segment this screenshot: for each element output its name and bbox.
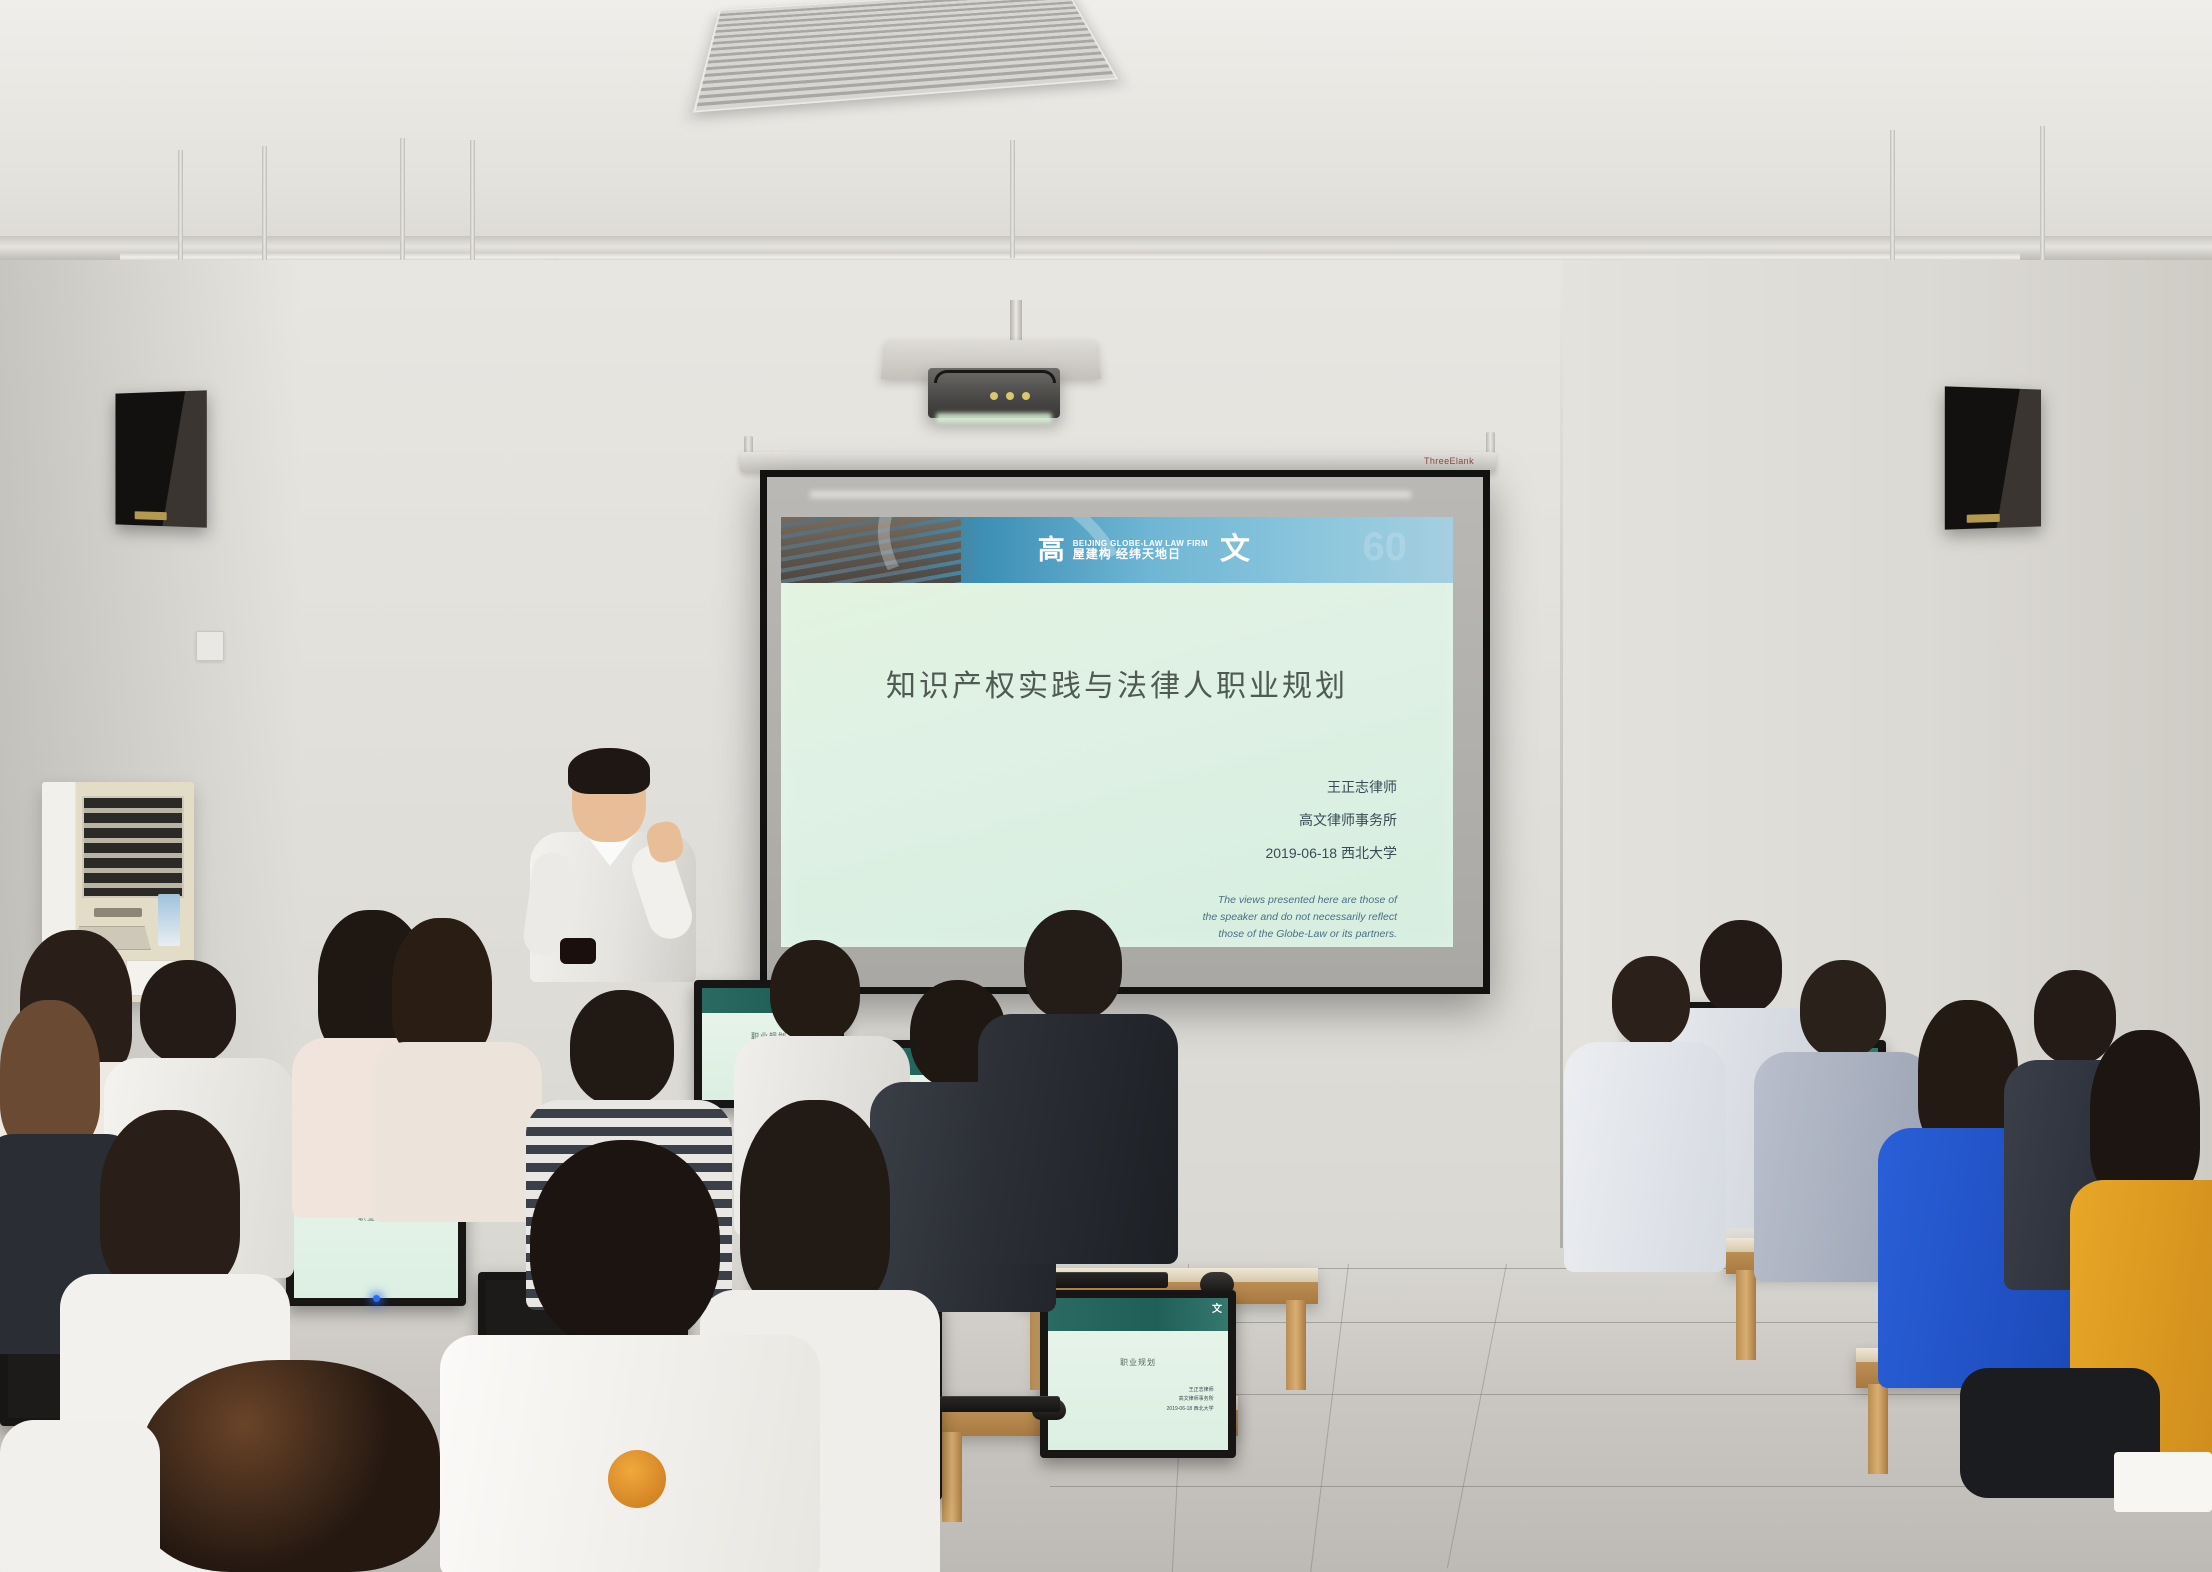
hanger-rod-1 xyxy=(178,150,183,260)
desk-leg xyxy=(1868,1384,1888,1474)
screen-roller-case: ThreeElank xyxy=(740,452,1496,472)
projector-port-2 xyxy=(1006,392,1014,400)
logo-char-gao: 高 xyxy=(1038,537,1065,564)
projector-port-3 xyxy=(1022,392,1030,400)
monitor-center-4: 文 职业规划 王正志律师 高文律师事务所 2019-06-18 西北大学 xyxy=(1040,1290,1236,1458)
hanger-rod-5 xyxy=(1010,140,1015,258)
slide-meta-block: 王正志律师 高文律师事务所 2019-06-18 西北大学 xyxy=(781,771,1453,870)
attendee-head xyxy=(570,990,674,1106)
screen-highlight xyxy=(810,491,1411,498)
logo-char-wen: 文 xyxy=(1220,535,1250,565)
slide-date-venue: 2019-06-18 西北大学 xyxy=(781,837,1397,870)
banner-ghost-mark: 60 xyxy=(1363,525,1408,570)
floor-grout-v2 xyxy=(1310,1264,1349,1572)
firm-logo: 高 BEIJING GLOBE-LAW LAW FIRM 屋建构 经纬天地日 文 xyxy=(1038,535,1250,565)
monitor-meta-date: 2019-06-18 西北大学 xyxy=(1048,1405,1214,1415)
monitor-meta-name: 王正志律师 xyxy=(1048,1386,1214,1396)
hanger-rod-2 xyxy=(262,146,267,264)
monitor-slide-title: 职业规划 xyxy=(1048,1357,1228,1368)
attendee-head xyxy=(530,1140,720,1350)
monitor-slide-banner: 文 xyxy=(1048,1298,1228,1331)
attendee-torso xyxy=(0,1420,160,1572)
tshirt-basketball-graphic xyxy=(608,1450,666,1508)
attendee-head xyxy=(140,960,236,1064)
monitor-slide-meta: 王正志律师 高文律师事务所 2019-06-18 西北大学 xyxy=(1048,1386,1228,1415)
mouse-center-1[interactable] xyxy=(1200,1272,1234,1294)
monitor-screen: 文 职业规划 王正志律师 高文律师事务所 2019-06-18 西北大学 xyxy=(1048,1298,1228,1450)
wall-outlet-plate xyxy=(196,631,224,661)
classroom-photo: ThreeElank 60 高 BEIJING GLOBE-LAW LAW FI… xyxy=(0,0,2212,1572)
desk-leg xyxy=(942,1432,962,1522)
monitor-power-led xyxy=(373,1295,380,1302)
presenter xyxy=(512,748,712,978)
attendee-hair xyxy=(0,1000,100,1150)
speaker-grille-right xyxy=(1945,386,2041,529)
speaker-badge-left xyxy=(135,511,167,520)
wall-speaker-left xyxy=(115,390,206,527)
attendee-hair xyxy=(392,918,492,1058)
speaker-badge-right xyxy=(1967,514,2000,523)
attendee-head xyxy=(770,940,860,1042)
desk-leg xyxy=(1286,1300,1306,1390)
monitor-meta-org: 高文律师事务所 xyxy=(1048,1395,1214,1405)
attendee-torso xyxy=(1564,1042,1726,1272)
attendee-torso xyxy=(978,1014,1178,1264)
presenter-hair xyxy=(568,748,650,794)
projection-screen: 60 高 BEIJING GLOBE-LAW LAW FIRM 屋建构 经纬天地… xyxy=(760,470,1490,994)
screen-surface: 60 高 BEIJING GLOBE-LAW LAW FIRM 屋建构 经纬天地… xyxy=(767,477,1483,987)
attendee-hair xyxy=(100,1110,240,1290)
floor-grout-v3 xyxy=(1447,1264,1507,1568)
ac-brand-badge xyxy=(94,908,142,917)
hanger-rod-3 xyxy=(400,138,405,260)
slide-title: 知识产权实践与法律人职业规划 xyxy=(781,661,1453,705)
papers-on-desk xyxy=(2114,1452,2212,1512)
hanger-rod-7 xyxy=(2040,126,2045,262)
speaker-grille-left xyxy=(115,390,206,527)
keyboard-center-2[interactable] xyxy=(940,1396,1060,1412)
slide-presenter-name: 王正志律师 xyxy=(781,771,1397,804)
wall-speaker-right xyxy=(1945,386,2041,529)
firm-chinese-name: 屋建构 经纬天地日 xyxy=(1073,548,1208,562)
attendee-head xyxy=(1800,960,1886,1058)
projector-port-1 xyxy=(990,392,998,400)
projector xyxy=(928,368,1060,418)
attendee-head xyxy=(1612,956,1690,1046)
slide-organization: 高文律师事务所 xyxy=(781,804,1397,837)
attendee-head xyxy=(2034,970,2116,1064)
monitor-logo-char: 文 xyxy=(1212,1300,1222,1315)
ac-energy-label xyxy=(158,894,180,946)
hanger-rod-6 xyxy=(1890,130,1895,260)
desk-leg xyxy=(1736,1270,1756,1360)
slide-banner: 60 高 BEIJING GLOBE-LAW LAW FIRM 屋建构 经纬天地… xyxy=(781,517,1453,583)
projector-lens-glow xyxy=(936,413,1052,423)
monitor-bezel: 文 职业规划 王正志律师 高文律师事务所 2019-06-18 西北大学 xyxy=(1048,1298,1228,1450)
screen-brand-label: ThreeElank xyxy=(1424,456,1474,466)
attendee-head xyxy=(1024,910,1122,1020)
disclaimer-line-1: The views presented here are those of xyxy=(781,892,1397,909)
attendee-hair xyxy=(140,1360,440,1572)
attendee-torso xyxy=(372,1042,542,1222)
projector-cable xyxy=(934,370,1056,383)
attendee-head xyxy=(1700,920,1782,1014)
ac-louver-grille xyxy=(82,796,184,898)
slide-disclaimer: The views presented here are those of th… xyxy=(781,892,1453,944)
hanger-rod-4 xyxy=(470,140,475,260)
presenter-clicker xyxy=(560,938,596,964)
keyboard-center-1[interactable] xyxy=(1038,1272,1168,1288)
wall-corner xyxy=(1560,260,1563,1270)
attendee-hair xyxy=(2090,1030,2200,1200)
projected-slide: 60 高 BEIJING GLOBE-LAW LAW FIRM 屋建构 经纬天地… xyxy=(781,517,1453,947)
logo-text-stack: BEIJING GLOBE-LAW LAW FIRM 屋建构 经纬天地日 xyxy=(1073,539,1208,562)
attendee-hair xyxy=(740,1100,890,1310)
